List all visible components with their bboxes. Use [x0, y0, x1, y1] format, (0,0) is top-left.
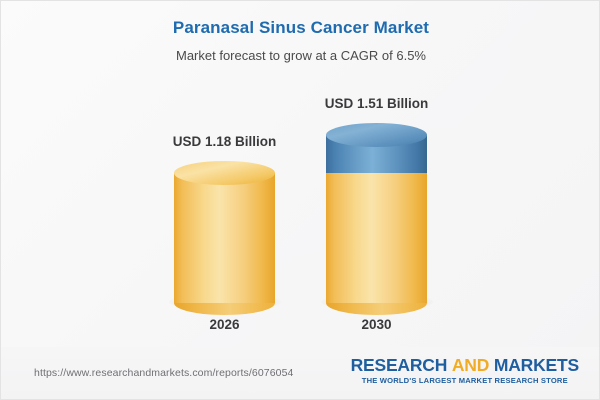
cylinder-body-base-2030 — [326, 173, 427, 303]
cylinder-body-2026 — [174, 173, 275, 303]
bar-value-label-2030: USD 1.51 Billion — [277, 96, 477, 111]
cylinder-2026 — [174, 161, 275, 303]
bar-category-label-2030: 2030 — [277, 317, 477, 332]
logo-tagline: THE WORLD'S LARGEST MARKET RESEARCH STOR… — [351, 376, 579, 385]
footer-bar: https://www.researchandmarkets.com/repor… — [1, 347, 600, 399]
research-and-markets-logo[interactable]: RESEARCH AND MARKETS THE WORLD'S LARGEST… — [351, 355, 579, 385]
bar-2026[interactable]: USD 1.18 Billion 2026 — [174, 1, 275, 349]
market-forecast-infographic-card: Paranasal Sinus Cancer Market Market for… — [0, 0, 600, 400]
logo-word-and: AND — [452, 355, 489, 375]
report-url-link[interactable]: https://www.researchandmarkets.com/repor… — [34, 367, 293, 379]
cylinder-top-ellipse-2030 — [326, 123, 427, 147]
bar-value-label-2026: USD 1.18 Billion — [125, 134, 325, 149]
logo-wordmark: RESEARCH AND MARKETS — [351, 355, 579, 375]
cylinder-top-ellipse-2026 — [174, 161, 275, 185]
logo-word-markets: MARKETS — [494, 355, 579, 375]
bar-2030[interactable]: USD 1.51 Billion 2030 — [326, 1, 427, 349]
cylinder-segment-growth-2030 — [326, 123, 427, 185]
logo-word-research: RESEARCH — [351, 355, 448, 375]
chart-plot-area: USD 1.18 Billion 2026 USD 1.51 Billion 2… — [1, 1, 600, 349]
